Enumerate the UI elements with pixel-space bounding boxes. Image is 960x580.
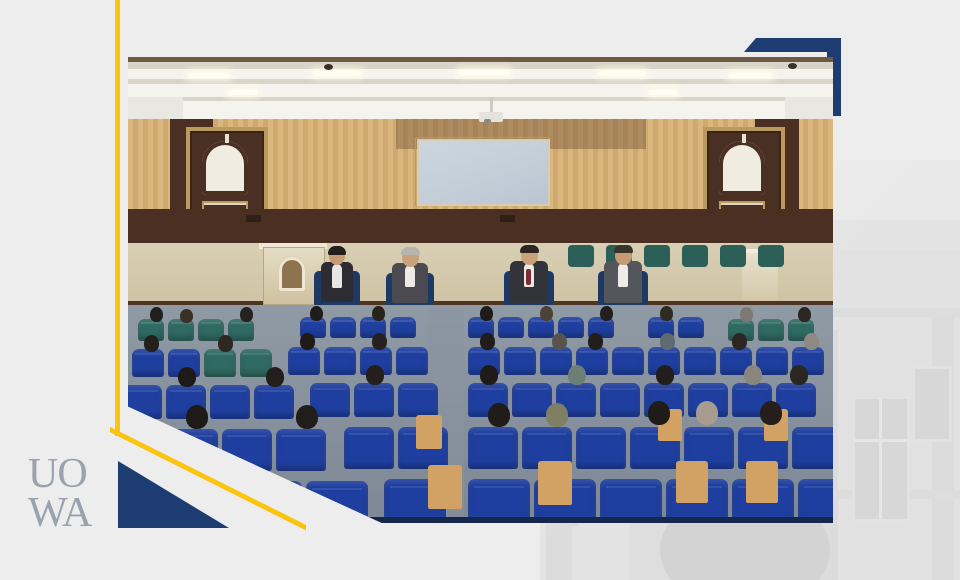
seat xyxy=(324,347,356,375)
audience-head xyxy=(372,306,385,321)
seat xyxy=(792,427,833,469)
audience-head-hijab xyxy=(744,365,762,385)
seat xyxy=(468,427,518,469)
audience-head xyxy=(296,405,318,429)
audience-head xyxy=(144,335,159,352)
photo-bottom-band xyxy=(128,517,833,523)
stage-chair-background xyxy=(720,245,746,267)
audience-head xyxy=(310,306,323,321)
ceiling-light xyxy=(648,90,678,95)
seat xyxy=(240,481,302,523)
audience-head xyxy=(790,365,808,385)
logo-line-1: UO xyxy=(28,455,114,494)
watermark-window-small xyxy=(912,366,952,442)
seat xyxy=(168,319,194,341)
stage-front-wall xyxy=(128,209,833,243)
audience-head-hijab xyxy=(804,333,819,350)
panelist-1 xyxy=(314,247,360,309)
seat xyxy=(330,317,356,338)
folding-desk xyxy=(416,415,442,449)
panelist-hair xyxy=(328,246,346,255)
ceiling-projector xyxy=(479,112,503,122)
panelist-shirt xyxy=(405,265,415,287)
audience-head xyxy=(488,403,510,427)
ornament-spire xyxy=(225,134,229,143)
ceiling-light xyxy=(313,71,361,76)
ornament-spire xyxy=(742,134,746,143)
seat xyxy=(504,347,536,375)
ceiling-light xyxy=(728,73,772,78)
seat xyxy=(758,319,784,341)
projector-lens xyxy=(484,119,491,123)
seat xyxy=(288,347,320,375)
seat xyxy=(678,317,704,338)
seat xyxy=(396,347,428,375)
watermark-mullion xyxy=(879,399,882,519)
folding-desk xyxy=(428,465,462,509)
seat xyxy=(228,319,254,341)
stage-chair-background xyxy=(568,245,594,267)
audience-head-hijab xyxy=(660,333,675,350)
banner-canvas: UO WA xyxy=(0,0,960,580)
audience-head xyxy=(372,333,387,350)
folding-desk xyxy=(746,461,778,503)
audience-head xyxy=(218,335,233,352)
seat xyxy=(540,347,572,375)
audience-head xyxy=(600,306,613,321)
seat xyxy=(128,429,164,471)
ceiling-speaker xyxy=(788,63,797,69)
audience-head xyxy=(186,405,208,429)
watermark-column-4 xyxy=(932,310,954,580)
seminar-photo xyxy=(128,57,833,523)
audience-head xyxy=(480,306,493,321)
panelist-3 xyxy=(504,247,554,309)
audience-head-hijab xyxy=(552,333,567,350)
ceiling-light xyxy=(228,90,258,95)
seat xyxy=(576,427,626,469)
panelist-necktie xyxy=(526,269,531,285)
projector-mount-rod xyxy=(490,97,493,113)
audience-head xyxy=(366,365,384,385)
audience-head-hijab xyxy=(568,365,586,385)
seat xyxy=(210,385,250,419)
watermark-window-side xyxy=(852,396,910,522)
audience-head xyxy=(540,306,553,321)
logo-line-2: WA xyxy=(28,494,114,533)
panelist-2 xyxy=(386,249,434,309)
seat xyxy=(390,317,416,338)
seat xyxy=(612,347,644,375)
seat xyxy=(132,349,164,377)
navy-triangle xyxy=(118,461,229,528)
audience-head-hijab xyxy=(696,401,718,425)
audience-head xyxy=(732,333,747,350)
audience-head xyxy=(266,367,284,387)
audience-head xyxy=(648,401,670,425)
wall-vent xyxy=(500,215,515,222)
seat xyxy=(398,383,438,417)
audience-head xyxy=(178,367,196,387)
watermark-mullion xyxy=(855,439,907,442)
audience-head xyxy=(480,333,495,350)
stage-chair-background xyxy=(682,245,708,267)
panelist-hair xyxy=(520,245,539,253)
folding-desk xyxy=(538,461,572,505)
ceiling-light xyxy=(188,73,230,78)
panelist-4 xyxy=(598,247,648,309)
ceiling-band xyxy=(128,62,833,69)
seat xyxy=(528,317,554,338)
seat xyxy=(684,347,716,375)
folding-desk xyxy=(676,461,708,503)
seat xyxy=(354,383,394,417)
seat xyxy=(306,481,368,523)
audience-head xyxy=(240,307,253,322)
ceiling-light xyxy=(598,71,646,76)
audience-head xyxy=(760,401,782,425)
seat xyxy=(498,317,524,338)
panelist-shirt xyxy=(618,263,628,287)
audience-head xyxy=(480,365,498,385)
panelist-shirt xyxy=(332,264,342,288)
audience-head-hijab xyxy=(546,403,568,427)
audience-head xyxy=(798,307,811,322)
ceiling-light xyxy=(458,70,510,75)
audience-head xyxy=(150,307,163,322)
seat xyxy=(344,427,394,469)
stage-chair-background xyxy=(758,245,784,267)
ceiling-speaker xyxy=(324,64,333,70)
seat xyxy=(204,349,236,377)
audience-head xyxy=(180,309,193,323)
projector-screen xyxy=(417,139,550,206)
photo-content xyxy=(128,57,833,523)
seat xyxy=(600,383,640,417)
audience-head xyxy=(588,333,603,350)
seat xyxy=(128,385,162,419)
audience-head xyxy=(656,365,674,385)
seat xyxy=(222,429,272,471)
yellow-accent-rule-vertical xyxy=(115,0,120,436)
seat xyxy=(254,385,294,419)
uowa-logo: UO WA xyxy=(28,455,114,537)
seat xyxy=(276,429,326,471)
audience-head xyxy=(300,333,315,350)
audience-head xyxy=(660,306,673,321)
panelist-hair xyxy=(614,245,633,253)
podium-emblem xyxy=(279,257,305,291)
wall-vent xyxy=(246,215,261,222)
audience-head-hijab xyxy=(740,307,753,322)
panelist-hair xyxy=(401,247,420,255)
seat xyxy=(168,429,218,471)
